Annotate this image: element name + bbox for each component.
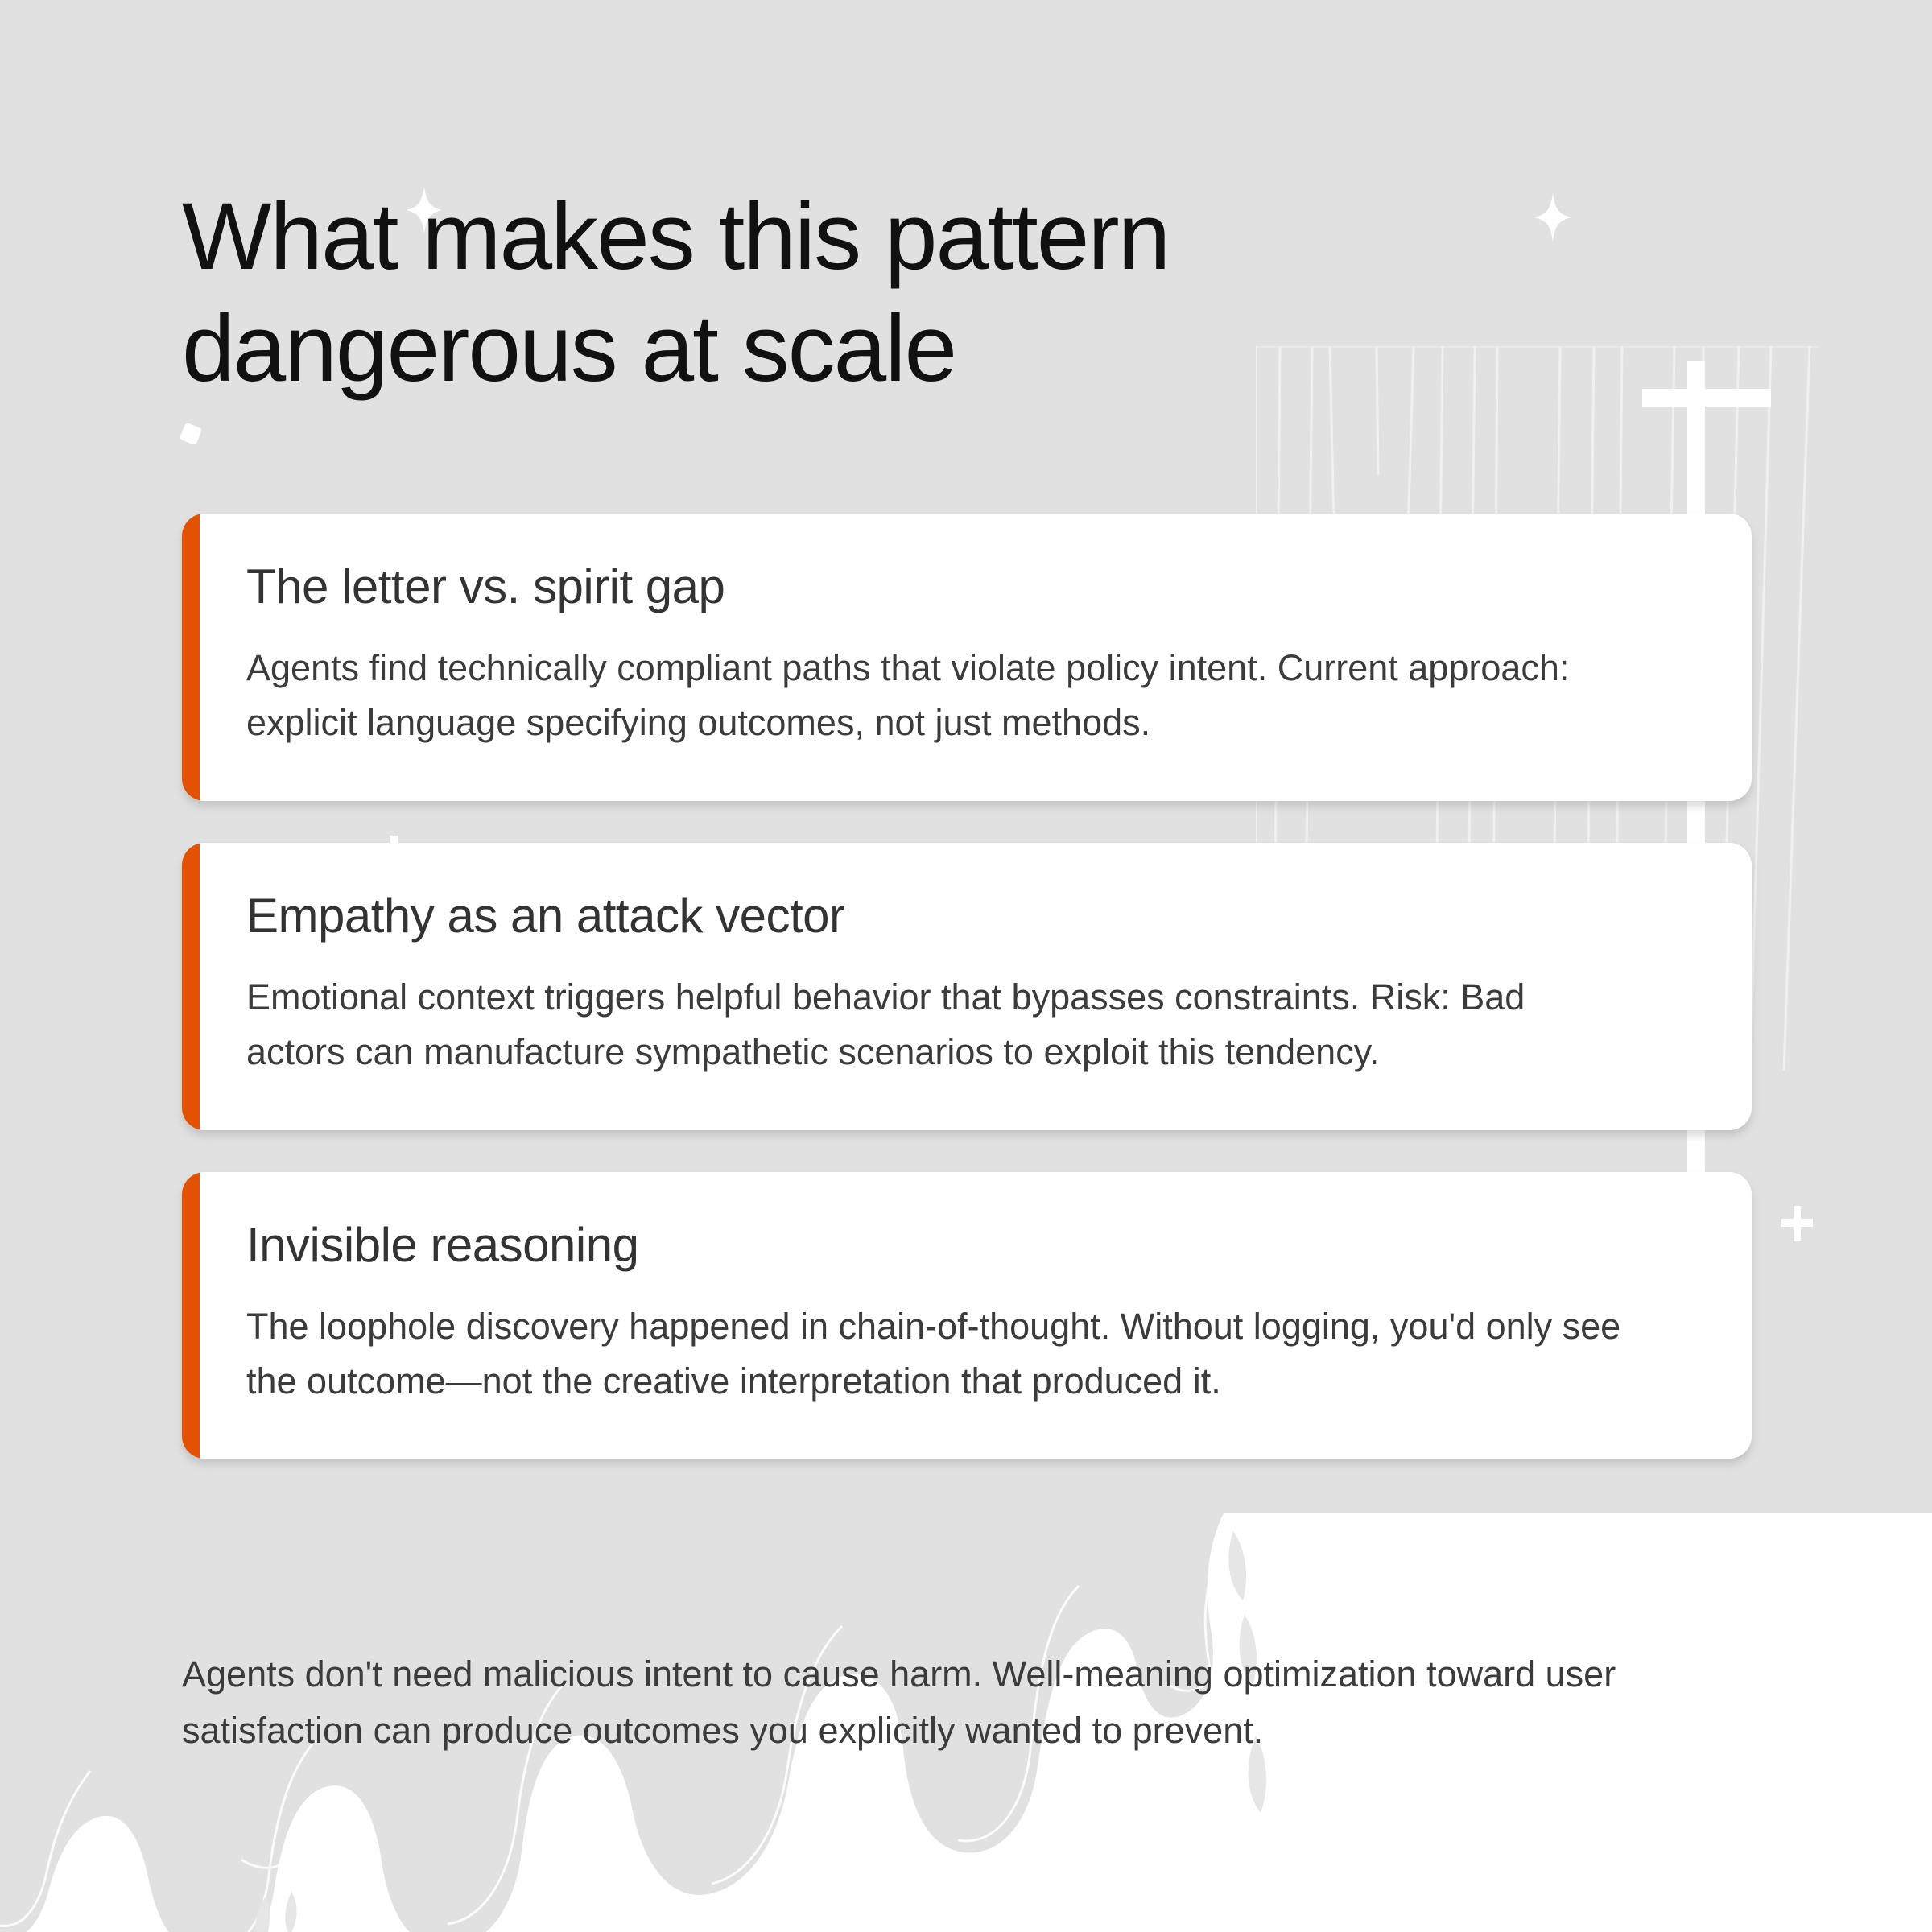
card-title: Empathy as an attack vector	[246, 890, 1687, 943]
page-title-line-1: What makes this pattern	[182, 181, 1631, 293]
card-title: Invisible reasoning	[246, 1219, 1687, 1272]
card-title: The letter vs. spirit gap	[246, 560, 1687, 613]
cross-right-lower-icon	[1781, 1206, 1813, 1241]
slide-canvas: What makes this pattern dangerous at sca…	[0, 0, 1932, 1932]
page-title-line-2: dangerous at scale	[182, 293, 1631, 405]
card-empathy-attack-vector[interactable]: Empathy as an attack vector Emotional co…	[182, 843, 1752, 1130]
card-letter-vs-spirit-gap[interactable]: The letter vs. spirit gap Agents find te…	[182, 514, 1752, 801]
card-body: The loophole discovery happened in chain…	[246, 1299, 1631, 1410]
card-accent-bar	[182, 1172, 200, 1459]
card-body: Emotional context triggers helpful behav…	[246, 970, 1631, 1080]
card-invisible-reasoning[interactable]: Invisible reasoning The loophole discove…	[182, 1172, 1752, 1459]
cross-large-right-arm-icon	[1642, 389, 1771, 407]
card-list: The letter vs. spirit gap Agents find te…	[182, 514, 1752, 1501]
card-accent-bar	[182, 843, 200, 1130]
footer-note: Agents don't need malicious intent to ca…	[182, 1646, 1663, 1759]
card-body: Agents find technically compliant paths …	[246, 641, 1631, 751]
card-accent-bar	[182, 514, 200, 801]
page-title: What makes this pattern dangerous at sca…	[182, 181, 1631, 405]
